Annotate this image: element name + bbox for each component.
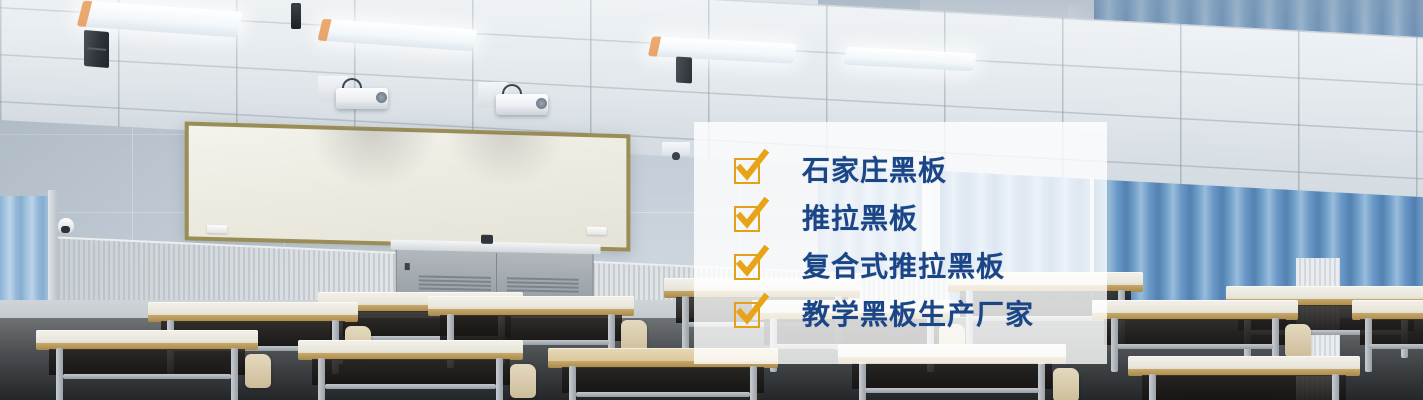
feature-list-item[interactable]: 石家庄黑板: [734, 147, 1107, 195]
classroom-banner: 石家庄黑板 推拉黑板 复合式推拉黑板 教学黑板生产厂家: [0, 0, 1423, 400]
checkbox-checked-icon: [734, 254, 760, 280]
whiteboard-marker-left: [207, 225, 227, 234]
checkbox-checked-icon: [734, 206, 760, 232]
wall-speaker-left: [84, 30, 109, 68]
wall-speaker-right: [676, 57, 692, 84]
feature-list-item[interactable]: 教学黑板生产厂家: [734, 291, 1107, 339]
ceiling-sensor: [291, 3, 301, 29]
whiteboard-surface: [189, 126, 627, 248]
feature-list-item-label: 教学黑板生产厂家: [802, 301, 1034, 329]
wall-mounted-camera: [58, 218, 74, 233]
feature-list-item-label: 推拉黑板: [802, 205, 918, 233]
feature-list-panel: 石家庄黑板 推拉黑板 复合式推拉黑板 教学黑板生产厂家: [694, 122, 1107, 364]
feature-list-item[interactable]: 复合式推拉黑板: [734, 243, 1107, 291]
checkbox-checked-icon: [734, 302, 760, 328]
feature-list-item-label: 复合式推拉黑板: [802, 253, 1005, 281]
feature-list-item[interactable]: 推拉黑板: [734, 195, 1107, 243]
feature-list-item-label: 石家庄黑板: [802, 157, 947, 185]
whiteboard: [185, 122, 631, 252]
whiteboard-marker-right: [587, 227, 607, 235]
wall-camera: [662, 142, 690, 155]
checkbox-checked-icon: [734, 158, 760, 184]
